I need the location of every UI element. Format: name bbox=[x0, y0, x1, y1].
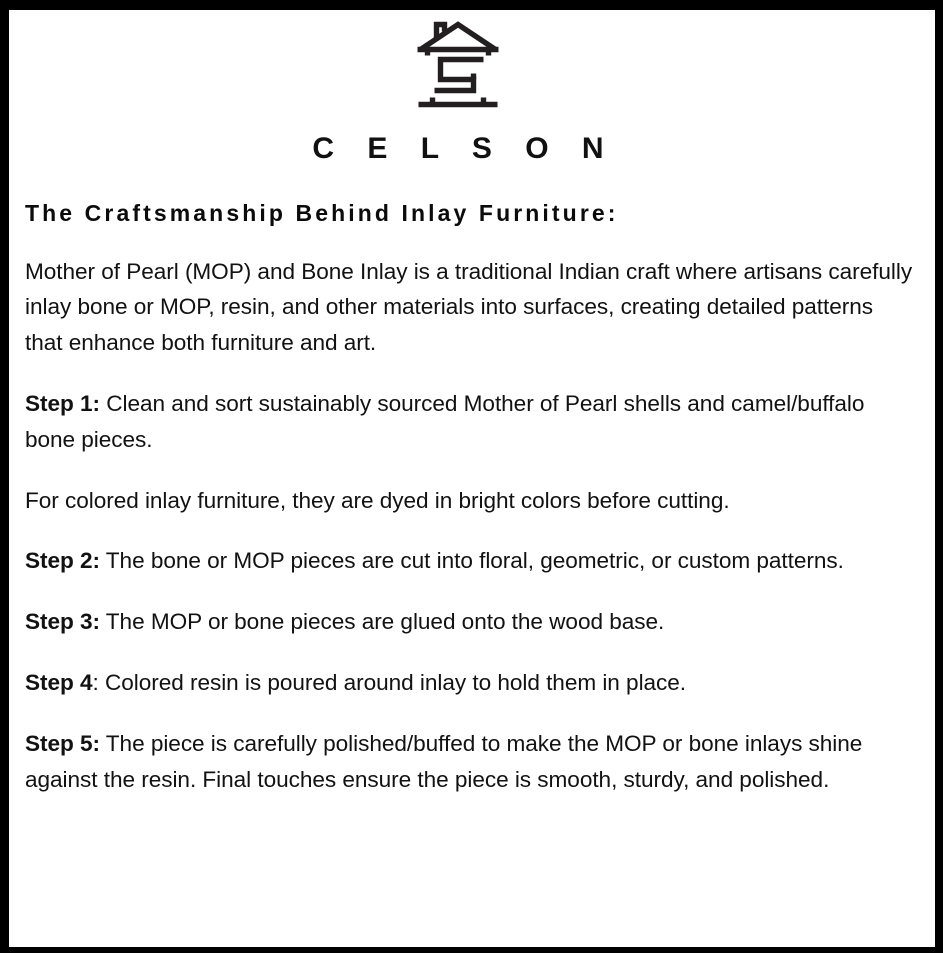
article-body: Mother of Pearl (MOP) and Bone Inlay is … bbox=[25, 228, 913, 798]
page-title: The Craftsmanship Behind Inlay Furniture… bbox=[25, 200, 899, 228]
poster-content: C E L S O N The Craftsmanship Behind Inl… bbox=[9, 10, 935, 947]
paragraph-step-5: Step 5: The piece is carefully polished/… bbox=[25, 726, 913, 798]
poster-frame: C E L S O N The Craftsmanship Behind Inl… bbox=[0, 0, 943, 953]
paragraph-text: The bone or MOP pieces are cut into flor… bbox=[100, 548, 844, 573]
paragraph-lead: Step 2: bbox=[25, 548, 100, 573]
paragraph-intro: Mother of Pearl (MOP) and Bone Inlay is … bbox=[25, 254, 913, 361]
paragraph-lead: Step 5: bbox=[25, 731, 100, 756]
paragraph-text: The MOP or bone pieces are glued onto th… bbox=[100, 609, 664, 634]
paragraph-step-2: Step 2: The bone or MOP pieces are cut i… bbox=[25, 543, 913, 579]
paragraph-text: Clean and sort sustainably sourced Mothe… bbox=[25, 391, 864, 452]
paragraph-lead: Step 1: bbox=[25, 391, 100, 416]
paragraph-lead: Step 4 bbox=[25, 670, 93, 695]
paragraph-colored-inlay: For colored inlay furniture, they are dy… bbox=[25, 483, 913, 519]
paragraph-text: Mother of Pearl (MOP) and Bone Inlay is … bbox=[25, 259, 912, 356]
paragraph-lead: Step 3: bbox=[25, 609, 100, 634]
paragraph-text: For colored inlay furniture, they are dy… bbox=[25, 488, 730, 513]
paragraph-step-3: Step 3: The MOP or bone pieces are glued… bbox=[25, 604, 913, 640]
brand-wordmark: C E L S O N bbox=[300, 134, 616, 164]
brand-header: C E L S O N bbox=[17, 16, 899, 164]
paragraph-step-1: Step 1: Clean and sort sustainably sourc… bbox=[25, 386, 913, 458]
house-logo-icon bbox=[410, 18, 506, 118]
paragraph-text: : Colored resin is poured around inlay t… bbox=[93, 670, 687, 695]
paragraph-text: The piece is carefully polished/buffed t… bbox=[25, 731, 862, 792]
paragraph-step-4: Step 4: Colored resin is poured around i… bbox=[25, 665, 913, 701]
